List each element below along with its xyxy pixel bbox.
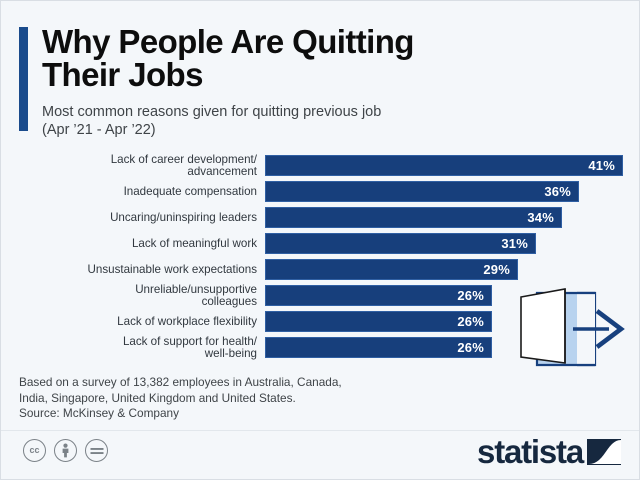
bar: 26%: [265, 311, 492, 332]
category-label: Lack of meaningful work: [19, 238, 265, 250]
bar-value-label: 34%: [527, 210, 561, 225]
footer: cc statista: [1, 430, 639, 479]
bar-value-label: 31%: [501, 236, 535, 251]
bar-value-label: 29%: [483, 262, 517, 277]
category-label: Uncaring/uninspiring leaders: [19, 212, 265, 224]
cc-label: cc: [29, 446, 39, 455]
chart-row: Uncaring/uninspiring leaders34%: [19, 207, 623, 228]
chart-row: Unsustainable work expectations29%: [19, 259, 623, 280]
bar-track: 29%: [265, 259, 623, 280]
bar-track: 34%: [265, 207, 623, 228]
chart-row: Lack of meaningful work31%: [19, 233, 623, 254]
source-note: Based on a survey of 13,382 employees in…: [19, 375, 342, 422]
category-label: Lack of workplace flexibility: [19, 316, 265, 328]
bar: 31%: [265, 233, 536, 254]
bar-value-label: 26%: [457, 340, 491, 355]
category-label: Inadequate compensation: [19, 186, 265, 198]
statista-swoosh-icon: [587, 439, 621, 465]
bar-track: 31%: [265, 233, 623, 254]
category-label: Unsustainable work expectations: [19, 264, 265, 276]
bar-value-label: 26%: [457, 314, 491, 329]
bar: 29%: [265, 259, 518, 280]
page-title: Why People Are Quitting Their Jobs: [42, 25, 621, 91]
bar-track: 36%: [265, 181, 623, 202]
chart-row: Lack of career development/ advancement4…: [19, 155, 623, 176]
creative-commons-badges: cc: [23, 439, 108, 462]
category-label: Lack of support for health/ well-being: [19, 336, 265, 359]
bar: 36%: [265, 181, 579, 202]
statista-logo: statista: [477, 435, 621, 468]
bar: 26%: [265, 285, 492, 306]
page-subtitle: Most common reasons given for quitting p…: [42, 103, 621, 139]
category-label: Unreliable/unsupportive colleagues: [19, 284, 265, 307]
attribution-person-icon: [54, 439, 77, 462]
open-door-exit-icon: [517, 287, 629, 371]
header-text: Why People Are Quitting Their Jobs Most …: [42, 25, 621, 139]
bar: 26%: [265, 337, 492, 358]
category-label: Lack of career development/ advancement: [19, 154, 265, 177]
header: Why People Are Quitting Their Jobs Most …: [19, 25, 621, 139]
statista-wordmark: statista: [477, 435, 583, 468]
bar-value-label: 41%: [588, 158, 622, 173]
statista-infographic: Why People Are Quitting Their Jobs Most …: [0, 0, 640, 480]
chart-row: Inadequate compensation36%: [19, 181, 623, 202]
no-derivatives-equals-icon: [85, 439, 108, 462]
bar: 41%: [265, 155, 623, 176]
creative-commons-icon: cc: [23, 439, 46, 462]
bar-value-label: 26%: [457, 288, 491, 303]
title-accent-bar: [19, 27, 28, 131]
bar: 34%: [265, 207, 562, 228]
bar-value-label: 36%: [544, 184, 578, 199]
bar-track: 41%: [265, 155, 623, 176]
